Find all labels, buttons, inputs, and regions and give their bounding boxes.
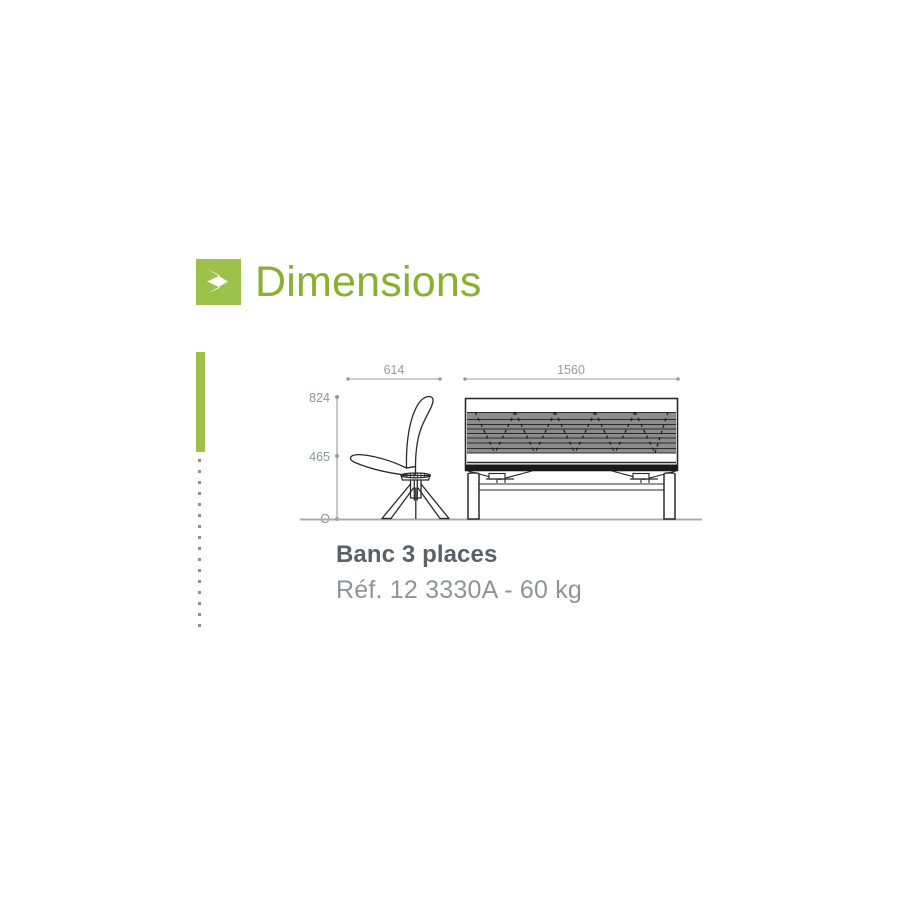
side-view-chair bbox=[351, 396, 449, 518]
dotted-rule bbox=[198, 459, 201, 634]
product-caption: Banc 3 places Réf. 12 3330A - 60 kg bbox=[336, 540, 756, 606]
page-root: Dimensions 614 1560 bbox=[0, 0, 900, 900]
product-reference: Réf. 12 3330A - 60 kg bbox=[336, 574, 756, 607]
dimensions-drawing: 614 1560 824 465 O bbox=[290, 360, 710, 530]
bench-leg-right bbox=[664, 473, 675, 519]
accent-bar bbox=[196, 352, 205, 452]
dimension-465-label: 465 bbox=[309, 450, 330, 464]
bench-leg-left bbox=[468, 473, 479, 519]
front-view-bench bbox=[466, 399, 678, 520]
dimension-824-label: 824 bbox=[309, 391, 330, 405]
dimension-1560: 1560 bbox=[463, 363, 680, 381]
dimension-614: 614 bbox=[346, 363, 442, 381]
product-name: Banc 3 places bbox=[336, 540, 756, 571]
dimension-614-label: 614 bbox=[384, 363, 405, 377]
section-heading: Dimensions bbox=[196, 259, 482, 305]
left-accent-rule bbox=[196, 352, 205, 634]
dimension-vertical-axis: 824 465 O bbox=[309, 391, 339, 526]
chevron-right-icon bbox=[196, 259, 241, 305]
page-title: Dimensions bbox=[255, 261, 482, 304]
dimension-1560-label: 1560 bbox=[557, 363, 585, 377]
